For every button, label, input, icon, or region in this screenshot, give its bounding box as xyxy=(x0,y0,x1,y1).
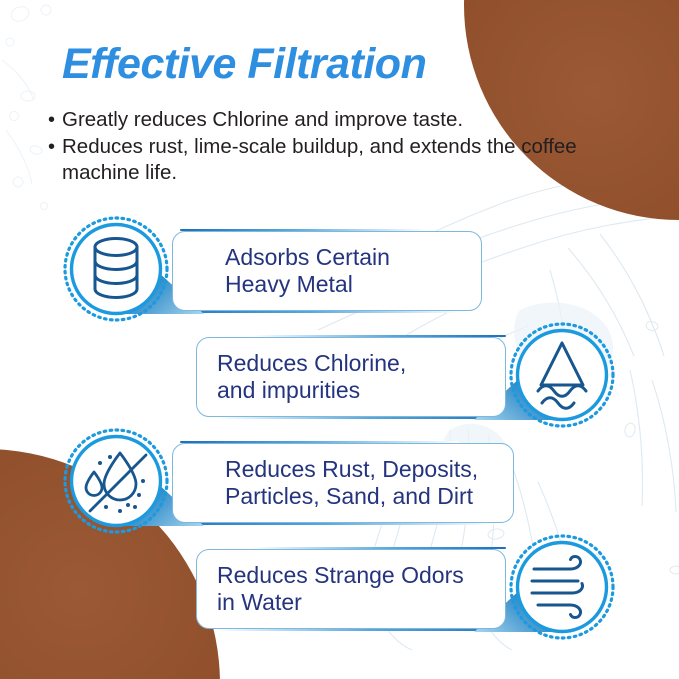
feature-row-adsorbs-heavy-metal: Adsorbs Certain Heavy Metal xyxy=(62,215,482,325)
feature-label-line: Heavy Metal xyxy=(225,271,390,298)
feature-label-box: Reduces Strange Odors in Water xyxy=(196,549,506,629)
feature-label-box: Reduces Rust, Deposits, Particles, Sand,… xyxy=(172,443,514,523)
feature-label-line: Reduces Rust, Deposits, xyxy=(225,456,478,483)
feature-label: Adsorbs Certain Heavy Metal xyxy=(173,244,390,298)
feature-label-line: Reduces Strange Odors xyxy=(217,562,464,589)
feature-label-box: Adsorbs Certain Heavy Metal xyxy=(172,231,482,311)
feature-icon-badge xyxy=(62,427,170,535)
feature-label-box: Reduces Chlorine, and impurities xyxy=(196,337,506,417)
no-dirt-droplet-icon xyxy=(62,427,170,535)
feature-label: Reduces Rust, Deposits, Particles, Sand,… xyxy=(173,456,478,510)
feature-row-reduces-chlorine: Reduces Chlorine, and impurities xyxy=(196,321,616,431)
feature-label-line: and impurities xyxy=(217,377,406,404)
feature-label-line: Reduces Chlorine, xyxy=(217,350,406,377)
feature-row-reduces-odors: Reduces Strange Odors in Water xyxy=(196,533,616,643)
feature-list: Adsorbs Certain Heavy Metal xyxy=(0,0,679,679)
air-flow-icon xyxy=(508,533,616,641)
stacked-discs-icon xyxy=(62,215,170,323)
feature-label: Reduces Chlorine, and impurities xyxy=(197,350,406,404)
feature-label-line: Particles, Sand, and Dirt xyxy=(225,483,478,510)
feature-icon-badge xyxy=(62,215,170,323)
feature-icon-badge xyxy=(508,321,616,429)
feature-row-reduces-rust: Reduces Rust, Deposits, Particles, Sand,… xyxy=(62,427,514,537)
feature-label: Reduces Strange Odors in Water xyxy=(197,562,464,616)
water-drop-waves-icon xyxy=(508,321,616,429)
feature-icon-badge xyxy=(508,533,616,641)
promo-graphic: Effective Filtration • Greatly reduces C… xyxy=(0,0,679,679)
feature-label-line: in Water xyxy=(217,589,464,616)
feature-label-line: Adsorbs Certain xyxy=(225,244,390,271)
